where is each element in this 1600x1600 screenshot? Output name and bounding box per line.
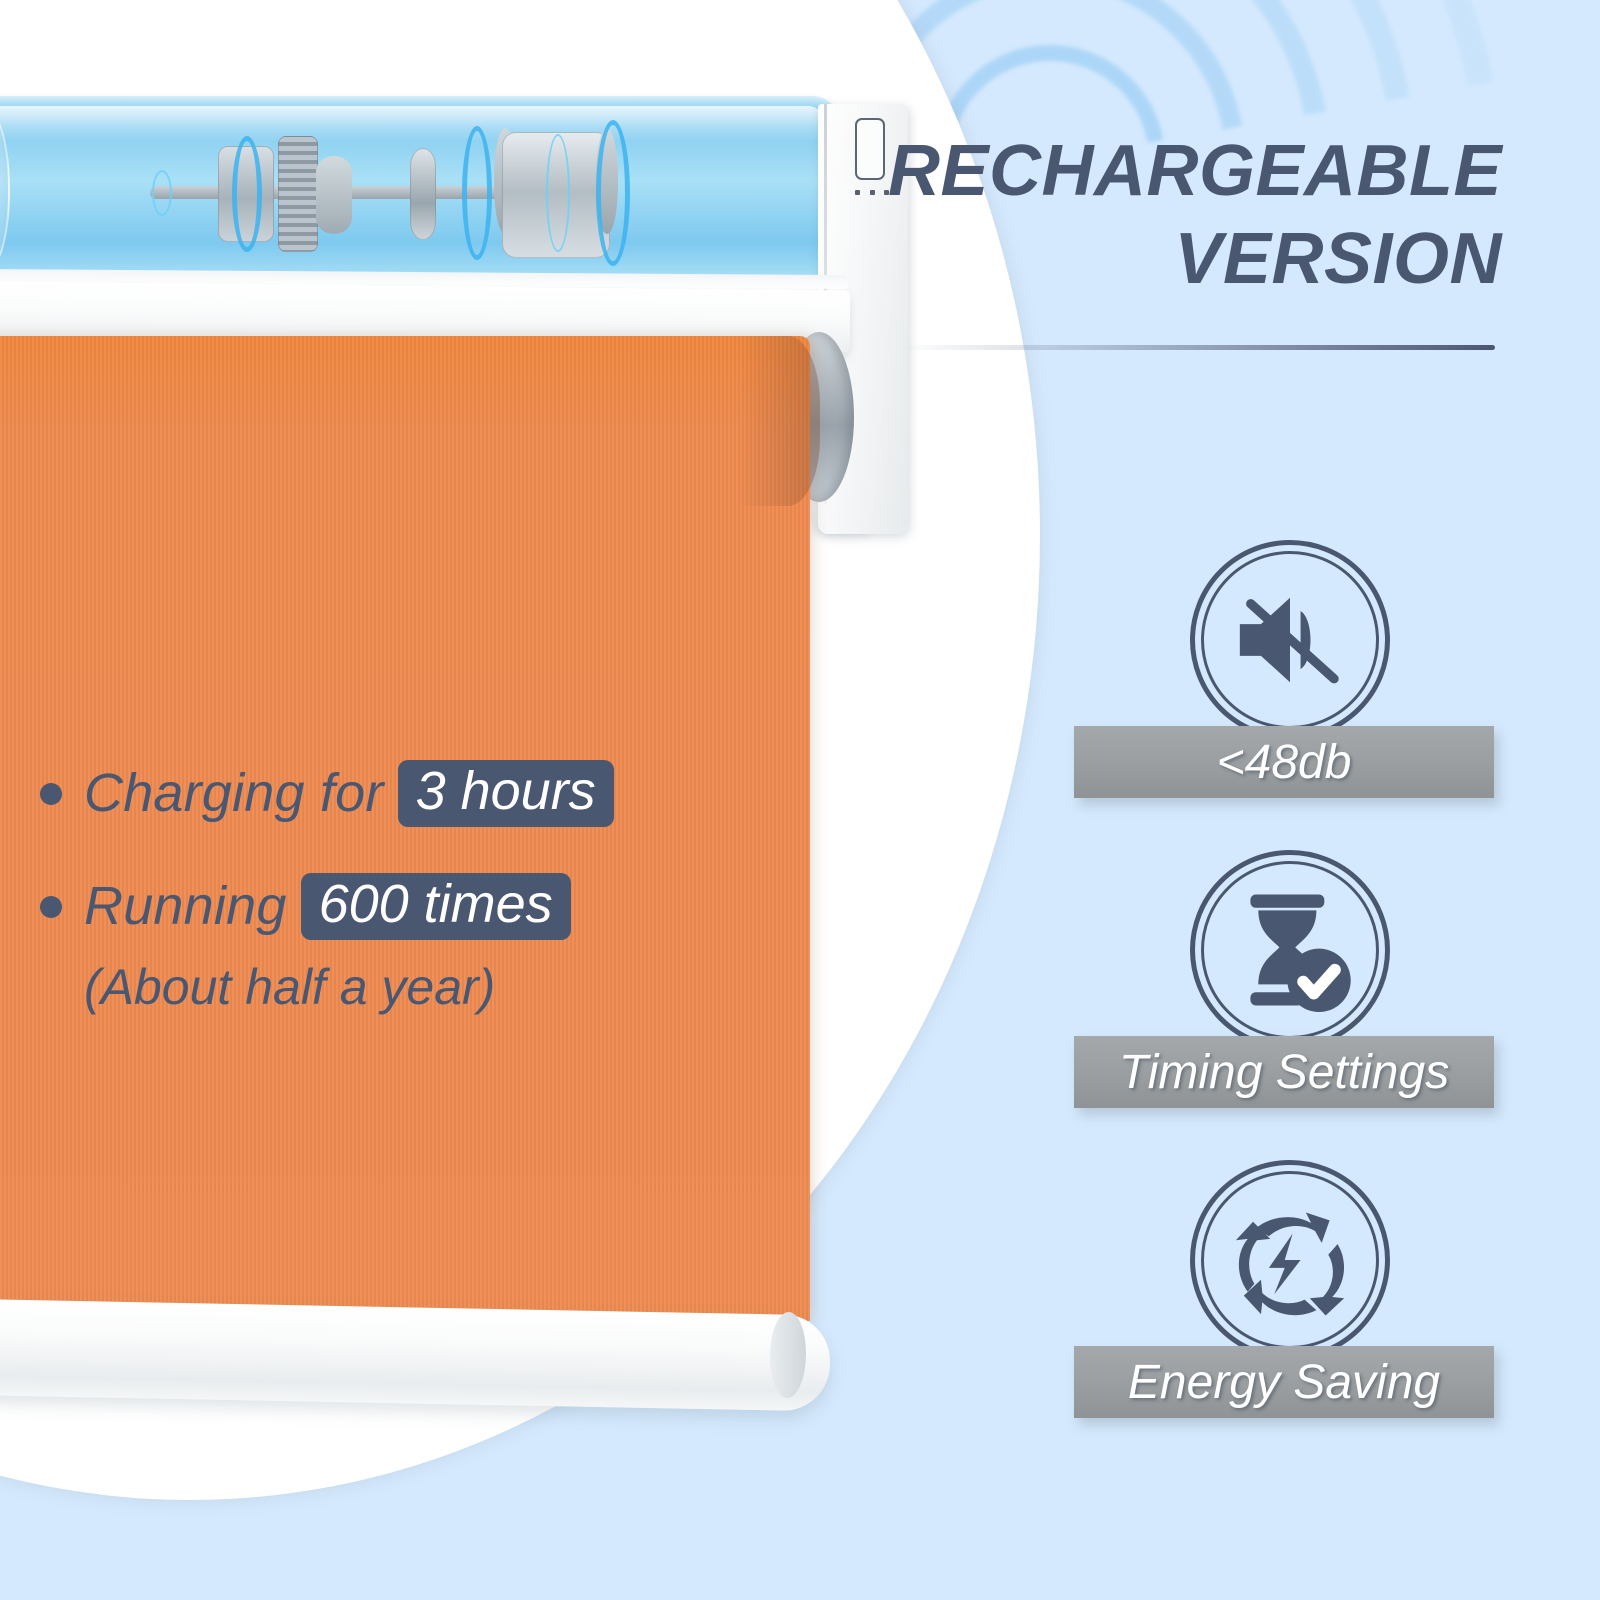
feature-noise: <48db bbox=[1060, 540, 1520, 850]
feature-label: <48db bbox=[1217, 735, 1352, 790]
rotation-ring-icon bbox=[462, 126, 492, 260]
energy-recycle-icon bbox=[1224, 1194, 1356, 1326]
motor-assembly bbox=[110, 118, 630, 268]
title-divider bbox=[900, 345, 1495, 350]
bullet-item-charging: Charging for 3 hours bbox=[40, 760, 720, 827]
feature-bullet-list: Charging for 3 hours Running 600 times (… bbox=[40, 760, 720, 1016]
gear-hub-icon bbox=[316, 156, 352, 234]
hourglass-check-icon bbox=[1224, 884, 1356, 1016]
fabric-roll-shadow bbox=[740, 336, 820, 506]
power-button[interactable] bbox=[855, 118, 885, 180]
bullet-item-running: Running 600 times bbox=[40, 873, 720, 940]
feature-badge-list: <48db Timing Settings bbox=[1060, 540, 1520, 1470]
feature-energy: Energy Saving bbox=[1060, 1160, 1520, 1470]
feature-banner: <48db bbox=[1074, 726, 1494, 798]
motor-disc bbox=[410, 148, 436, 240]
bullet-subnote: (About half a year) bbox=[84, 958, 720, 1016]
feature-banner: Timing Settings bbox=[1074, 1036, 1494, 1108]
rotation-ring-icon bbox=[546, 134, 570, 252]
feature-label: Timing Settings bbox=[1119, 1045, 1449, 1100]
bottom-rail bbox=[0, 1299, 831, 1412]
product-marketing-image: Charging for 3 hours Running 600 times (… bbox=[0, 0, 1600, 1600]
feature-label: Energy Saving bbox=[1128, 1355, 1440, 1410]
badge-circle bbox=[1190, 850, 1390, 1050]
led-dot bbox=[855, 190, 860, 195]
feature-banner: Energy Saving bbox=[1074, 1346, 1494, 1418]
badge-circle bbox=[1190, 540, 1390, 740]
motor-tube-cutaway bbox=[0, 96, 860, 296]
bullet-label: Running bbox=[84, 878, 287, 935]
bullet-highlight-chip: 600 times bbox=[301, 873, 571, 940]
led-dot bbox=[870, 190, 875, 195]
feature-timing: Timing Settings bbox=[1060, 850, 1520, 1160]
page-title: RECHARGEABLE VERSION bbox=[882, 128, 1502, 304]
rotation-ring-icon bbox=[596, 120, 630, 266]
page-title-line2: VERSION bbox=[882, 216, 1502, 304]
bullet-dot-icon bbox=[40, 783, 62, 805]
rotation-ring-icon bbox=[152, 170, 172, 216]
rotation-ring-icon bbox=[232, 136, 262, 252]
page-title-line1: RECHARGEABLE bbox=[882, 128, 1502, 216]
bullet-label: Charging for bbox=[84, 765, 384, 822]
bullet-dot-icon bbox=[40, 896, 62, 918]
mute-speaker-icon bbox=[1224, 574, 1356, 706]
badge-circle bbox=[1190, 1160, 1390, 1360]
bullet-highlight-chip: 3 hours bbox=[398, 760, 614, 827]
gear-teeth-icon bbox=[278, 136, 318, 252]
